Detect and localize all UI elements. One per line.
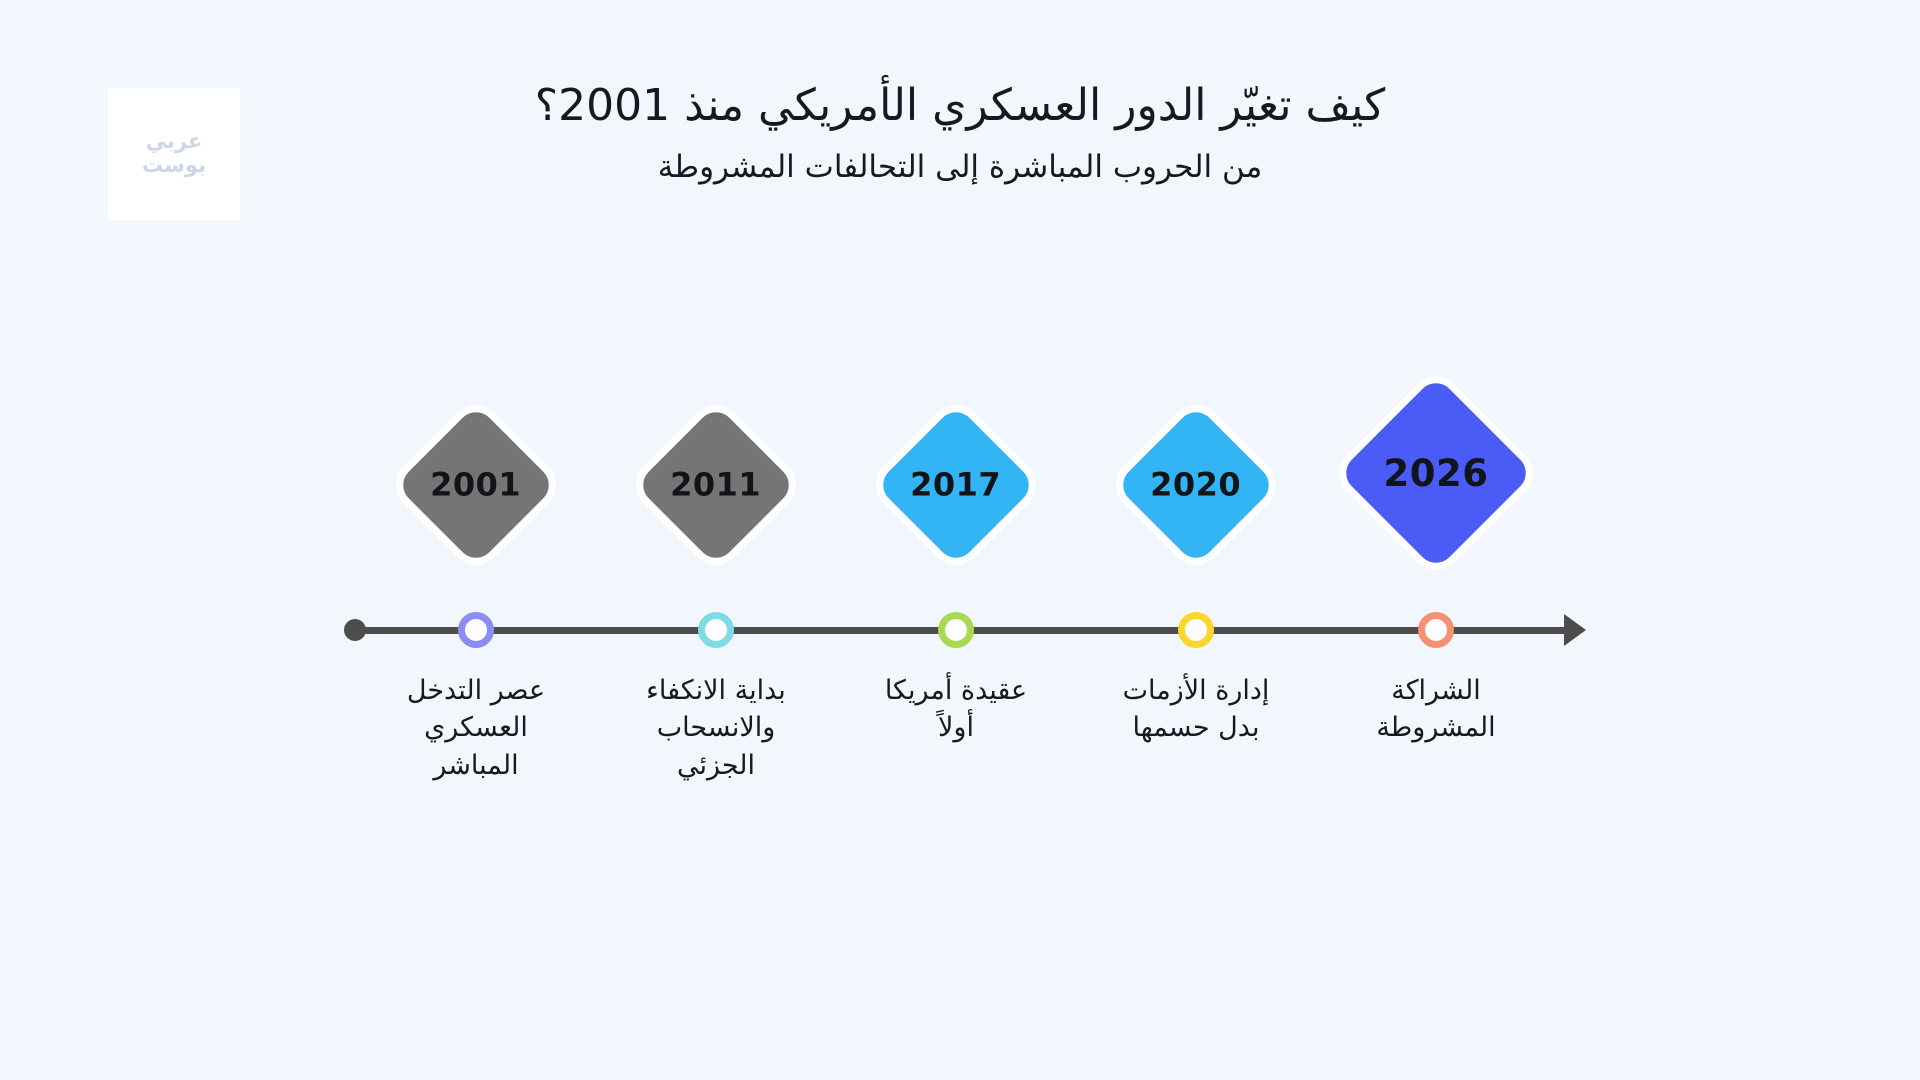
timeline-node-caption: عصر التدخل العسكري المباشر: [376, 672, 576, 784]
timeline-year-diamond[interactable]: 2020: [1105, 394, 1286, 575]
timeline-node-marker[interactable]: [938, 612, 974, 648]
timeline-node-marker[interactable]: [458, 612, 494, 648]
timeline-arrow-icon: [1564, 614, 1586, 646]
timeline-node-caption: الشراكة المشروطة: [1336, 672, 1536, 747]
timeline-chart: 2001عصر التدخل العسكري المباشر2011بداية …: [0, 0, 1920, 1080]
timeline-year-label: 2026: [1384, 452, 1489, 495]
timeline-year-label: 2011: [670, 466, 761, 504]
timeline-node-caption: عقيدة أمريكا أولاً: [856, 672, 1056, 747]
timeline-year-label: 2017: [910, 466, 1001, 504]
timeline-start-dot: [344, 619, 366, 641]
timeline-node-marker[interactable]: [1178, 612, 1214, 648]
timeline-node-caption: بداية الانكفاء والانسحاب الجزئي: [616, 672, 816, 784]
timeline-year-diamond[interactable]: 2026: [1329, 366, 1544, 581]
timeline-year-diamond[interactable]: 2017: [865, 394, 1046, 575]
timeline-year-label: 2001: [430, 466, 521, 504]
timeline-node-marker[interactable]: [1418, 612, 1454, 648]
timeline-year-diamond[interactable]: 2011: [625, 394, 806, 575]
timeline-node-marker[interactable]: [698, 612, 734, 648]
timeline-node-caption: إدارة الأزمات بدل حسمها: [1096, 672, 1296, 747]
timeline-year-label: 2020: [1150, 466, 1241, 504]
timeline-year-diamond[interactable]: 2001: [385, 394, 566, 575]
